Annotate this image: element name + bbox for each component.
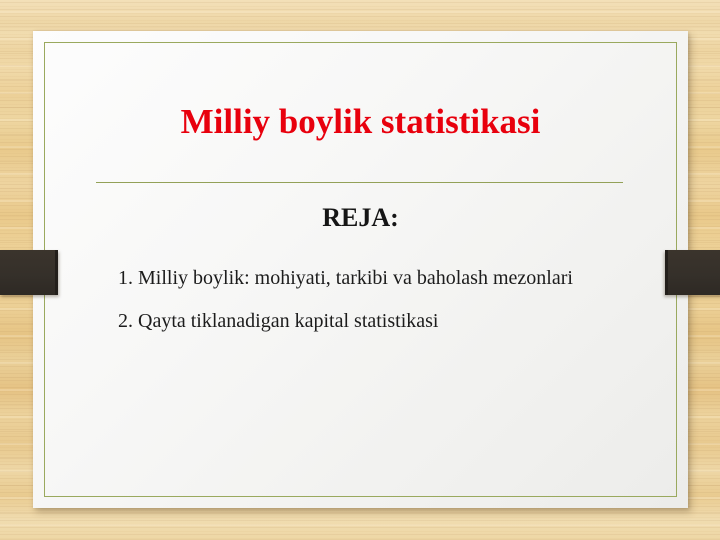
- presentation-slide: Milliy boylik statistikasi REJA: 1. Mill…: [0, 0, 720, 540]
- left-ribbon-tab: [0, 250, 58, 295]
- title-divider-rule: [96, 182, 623, 183]
- slide-content: Milliy boylik statistikasi REJA: 1. Mill…: [33, 31, 688, 508]
- list-item: 2. Qayta tiklanadigan kapital statistika…: [118, 306, 623, 336]
- slide-title: Milliy boylik statistikasi: [33, 103, 688, 142]
- list-item: 1. Milliy boylik: mohiyati, tarkibi va b…: [118, 263, 623, 293]
- right-ribbon-tab: [665, 250, 720, 295]
- outline-list: 1. Milliy boylik: mohiyati, tarkibi va b…: [118, 263, 623, 337]
- section-heading: REJA:: [33, 203, 688, 233]
- slide-card: Milliy boylik statistikasi REJA: 1. Mill…: [33, 31, 688, 508]
